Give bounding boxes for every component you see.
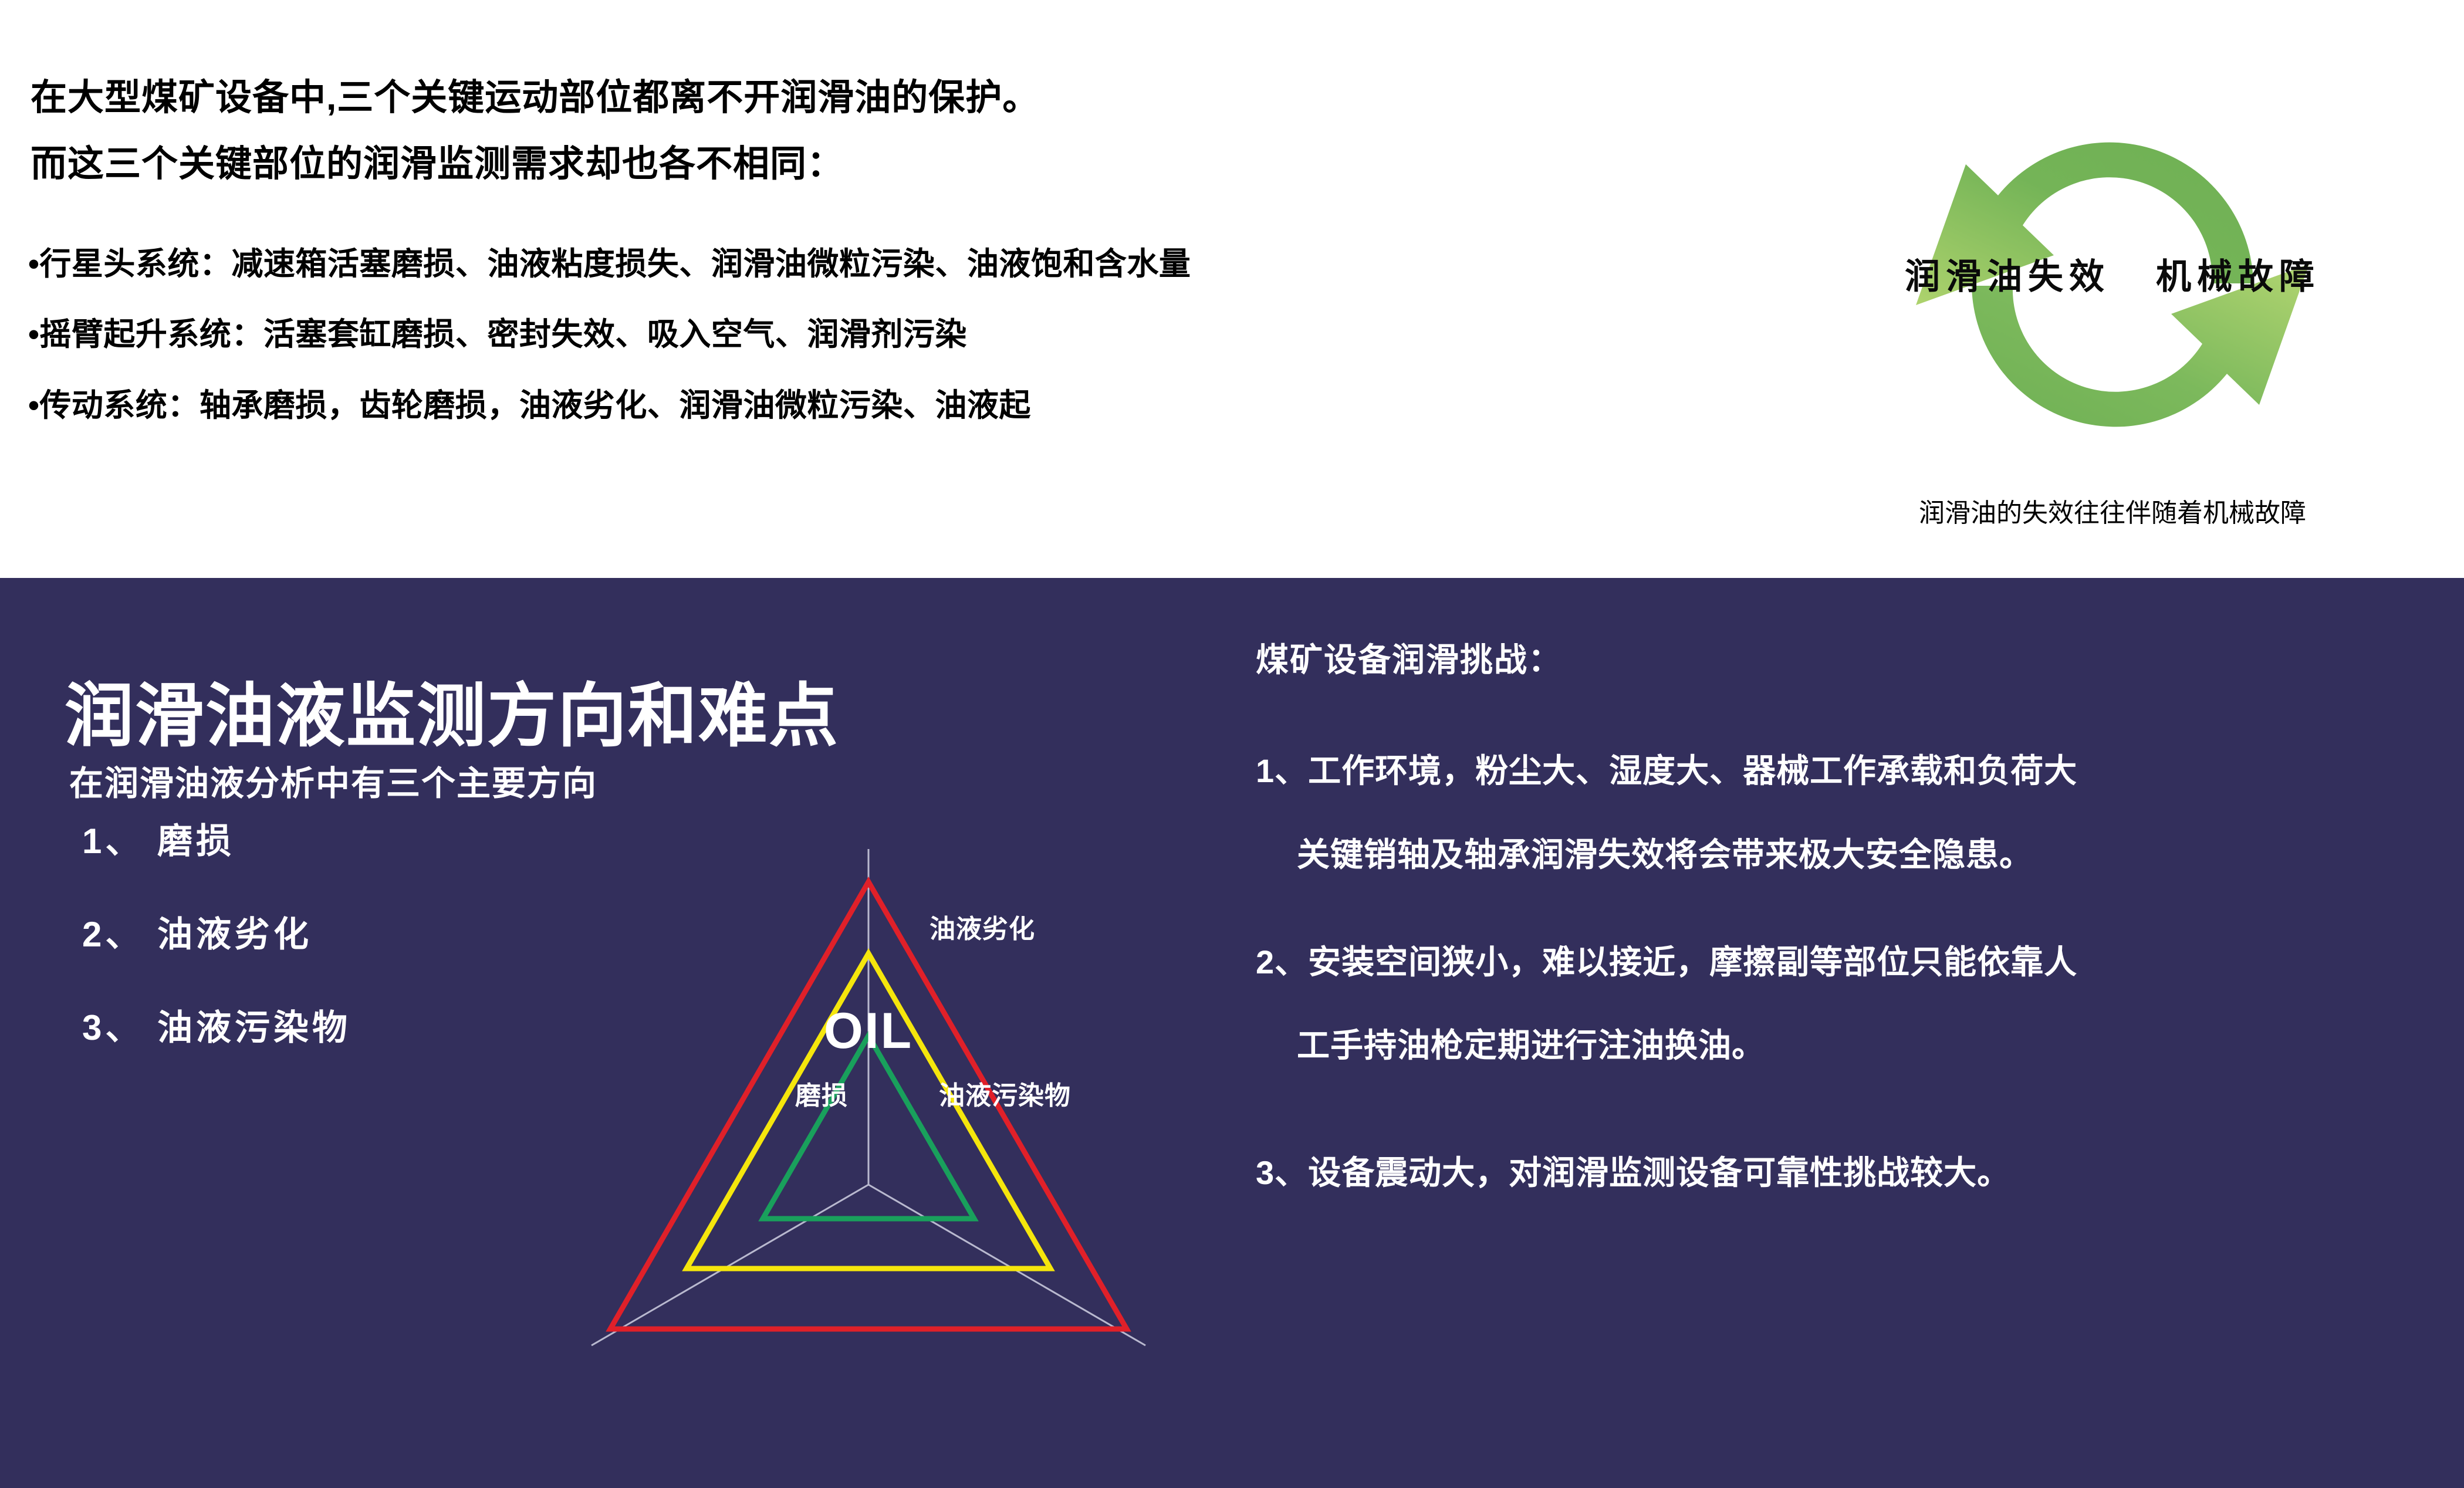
oil-triangle-svg <box>528 836 1209 1399</box>
challenge-2-line-2: 工手持油枪定期进行注油换油。 <box>1256 1020 2418 1071</box>
challenge-item-1: 1、工作环境，粉尘大、湿度大、器械工作承载和负荷大 关键销轴及轴承润滑失效将会带… <box>1256 746 2418 881</box>
bullet-item-planetary: •行星头系统：减速箱活塞磨损、油液粘度损失、润滑油微粒污染、油液饱和含水量 <box>28 246 1706 282</box>
monitoring-direction-list: 1、 磨损 2、 油液劣化 3、 油液污染物 <box>82 813 528 1093</box>
challenge-2-line-1: 2、安装空间狭小，难以接近，摩擦副等部位只能依靠人 <box>1256 937 2418 988</box>
challenge-1-line-2: 关键销轴及轴承润滑失效将会带来极大安全隐患。 <box>1256 830 2418 881</box>
bullet-item-rocker-lift: •摇臂起升系统：活塞套缸磨损、密封失效、吸入空气、润滑剂污染 <box>28 317 1706 352</box>
dark-content-panel: 润滑油液监测方向和难点 在润滑油液分析中有三个主要方向 1、 磨损 2、 油液劣… <box>0 578 2464 1488</box>
intro-line-2: 而这三个关键部位的润滑监测需求却也各不相同： <box>31 143 1662 185</box>
cycle-arrow-top <box>1916 143 2253 305</box>
challenge-3-line-1: 3、设备震动大，对润滑监测设备可靠性挑战较大。 <box>1256 1148 2418 1199</box>
panel-subtitle: 在润滑油液分析中有三个主要方向 <box>69 756 597 805</box>
direction-item-wear: 1、 磨损 <box>82 813 528 864</box>
intro-line-1: 在大型煤矿设备中,三个关键运动部位都离不开润滑油的保护。 <box>31 76 1662 119</box>
oil-triangle-diagram: OIL 油液劣化 磨损 油液污染物 <box>528 836 1209 1399</box>
challenges-heading: 煤矿设备润滑挑战： <box>1256 634 2418 681</box>
challenge-1-line-1: 1、工作环境，粉尘大、湿度大、器械工作承载和负荷大 <box>1256 746 2418 797</box>
cycle-arrows-svg <box>1816 62 2409 508</box>
cycle-caption: 润滑油的失效往往伴随着机械故障 <box>1816 492 2409 529</box>
top-white-section: 在大型煤矿设备中,三个关键运动部位都离不开润滑油的保护。 而这三个关键部位的润滑… <box>0 0 2464 578</box>
challenges-column: 煤矿设备润滑挑战： 1、工作环境，粉尘大、湿度大、器械工作承载和负荷大 关键销轴… <box>1256 634 2418 1255</box>
system-bullet-list: •行星头系统：减速箱活塞磨损、油液粘度损失、润滑油微粒污染、油液饱和含水量 •摇… <box>28 246 1706 458</box>
triangle-vertex-label-wear: 磨损 <box>795 1074 848 1112</box>
intro-paragraph: 在大型煤矿设备中,三个关键运动部位都离不开润滑油的保护。 而这三个关键部位的润滑… <box>31 76 1662 209</box>
cycle-arrow-bottom <box>1972 264 2309 427</box>
triangle-vertex-label-contaminant: 油液污染物 <box>939 1074 1071 1112</box>
cycle-arrows-diagram: 润滑油失效 机械故障 <box>1816 62 2409 508</box>
triangle-vertex-label-degradation: 油液劣化 <box>930 908 1035 945</box>
direction-item-contaminant: 3、 油液污染物 <box>82 999 528 1050</box>
direction-item-degradation: 2、 油液劣化 <box>82 906 528 957</box>
page-title: 润滑油液监测方向和难点 <box>65 660 839 760</box>
challenge-item-3: 3、设备震动大，对润滑监测设备可靠性挑战较大。 <box>1256 1148 2418 1199</box>
bullet-item-transmission: •传动系统：轴承磨损，齿轮磨损，油液劣化、润滑油微粒污染、油液起 <box>28 388 1706 423</box>
triangle-center-label: OIL <box>528 1002 1209 1060</box>
challenge-item-2: 2、安装空间狭小，难以接近，摩擦副等部位只能依靠人 工手持油枪定期进行注油换油。 <box>1256 937 2418 1072</box>
